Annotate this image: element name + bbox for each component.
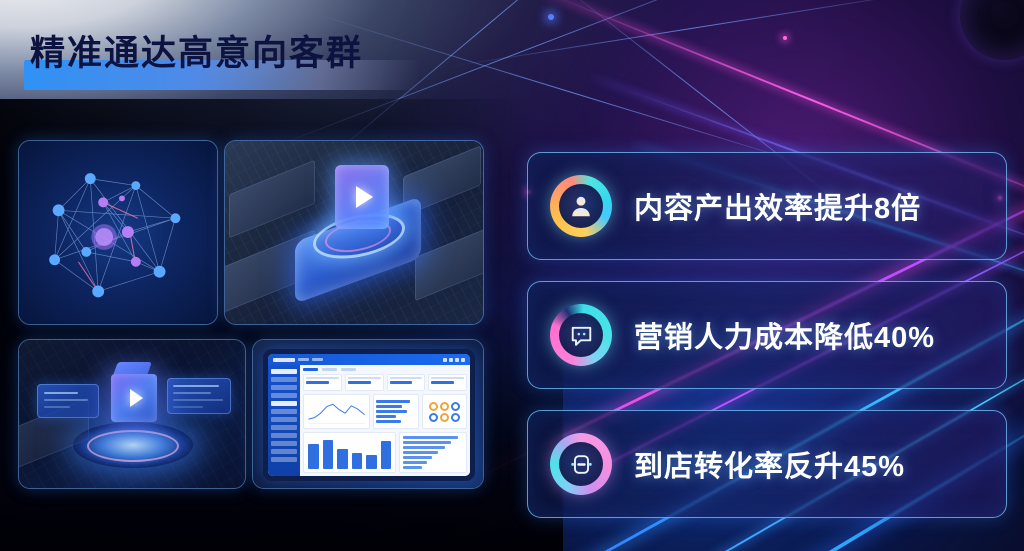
sidebar-item[interactable]	[271, 417, 297, 422]
bar-chart	[303, 432, 396, 473]
media-row-bottom	[18, 339, 484, 489]
dashboard-mid-row	[303, 394, 467, 429]
dashboard-topbar-actions	[443, 358, 465, 362]
play-triangle-icon	[356, 186, 373, 208]
donut-stat-grid	[422, 394, 467, 429]
sidebar-item[interactable]	[271, 425, 297, 430]
page-title-block: 精准通达高意向客群	[30, 34, 363, 74]
panel-video-chip[interactable]	[224, 140, 484, 325]
sidebar-item[interactable]	[271, 433, 297, 438]
sidebar-item[interactable]	[271, 385, 297, 390]
stat-card-store-conversion[interactable]: 到店转化率反升45%	[527, 410, 1007, 518]
stat-card-label: 内容产出效率提升8倍	[634, 185, 921, 227]
chat-bubble-icon	[568, 322, 595, 349]
tab[interactable]	[303, 368, 318, 371]
toolbar-icon[interactable]	[455, 358, 459, 362]
cube-icon	[111, 374, 157, 422]
background-node-dot	[548, 14, 554, 20]
video-play-icon	[335, 165, 389, 229]
page-title: 精准通达高意向客群	[30, 34, 363, 74]
panel-ai-cube[interactable]	[18, 339, 246, 489]
stat-card-label: 到店转化率反升45%	[634, 443, 905, 485]
dashboard-bottom-row	[303, 432, 467, 473]
kpi-row	[303, 374, 467, 391]
kpi-card	[303, 374, 342, 391]
kpi-card	[387, 374, 426, 391]
dashboard-body	[268, 365, 470, 476]
sidebar-item[interactable]	[271, 449, 297, 454]
floating-info-card	[167, 378, 231, 414]
floating-info-card	[37, 384, 99, 418]
sidebar-item[interactable]	[271, 401, 297, 406]
dashboard-nav-tab[interactable]	[312, 358, 323, 361]
panel-network-graph[interactable]	[18, 140, 218, 325]
kpi-card	[345, 374, 384, 391]
ranked-list	[399, 432, 467, 473]
kpi-card	[428, 374, 467, 391]
stat-card-list: 内容产出效率提升8倍 营销人力成本降低40% 到店转化率反升45%	[527, 152, 1007, 518]
dashboard-logo	[273, 358, 295, 362]
dashboard-nav-tab[interactable]	[298, 358, 309, 361]
media-gallery: AI系统自动完成关键词聚类	[18, 140, 484, 489]
tab[interactable]	[341, 368, 356, 371]
line-chart	[303, 394, 370, 429]
stat-ring-progress	[550, 433, 612, 495]
tab[interactable]	[322, 368, 337, 371]
sidebar-item[interactable]	[271, 457, 297, 462]
toolbar-icon[interactable]	[443, 358, 447, 362]
sidebar-item[interactable]	[271, 409, 297, 414]
stat-card-marketing-cost[interactable]: 营销人力成本降低40%	[527, 281, 1007, 389]
stat-card-content-efficiency[interactable]: 内容产出效率提升8倍	[527, 152, 1007, 260]
dashboard-sidebar	[268, 365, 300, 476]
network-graph-icon	[19, 141, 217, 324]
toolbar-icon[interactable]	[461, 358, 465, 362]
stat-ring-progress	[550, 175, 612, 237]
media-row-top	[18, 140, 484, 325]
dashboard-main	[300, 365, 470, 476]
dashboard-screen	[268, 354, 470, 476]
toolbar-icon[interactable]	[449, 358, 453, 362]
panel-dashboard[interactable]	[252, 339, 484, 489]
dashboard-tabs	[303, 368, 467, 371]
sidebar-item[interactable]	[271, 377, 297, 382]
sidebar-item[interactable]	[271, 441, 297, 446]
stat-ring-progress	[550, 304, 612, 366]
dashboard-topbar	[268, 354, 470, 365]
sidebar-item[interactable]	[271, 369, 297, 374]
sidebar-item[interactable]	[271, 393, 297, 398]
cube-glow-disc-inner	[87, 430, 179, 462]
stat-card-label: 营销人力成本降低40%	[634, 314, 935, 356]
tablet-device	[263, 349, 475, 481]
robot-icon	[568, 451, 595, 478]
user-icon	[568, 193, 594, 219]
horizontal-bar-chart	[373, 394, 418, 429]
